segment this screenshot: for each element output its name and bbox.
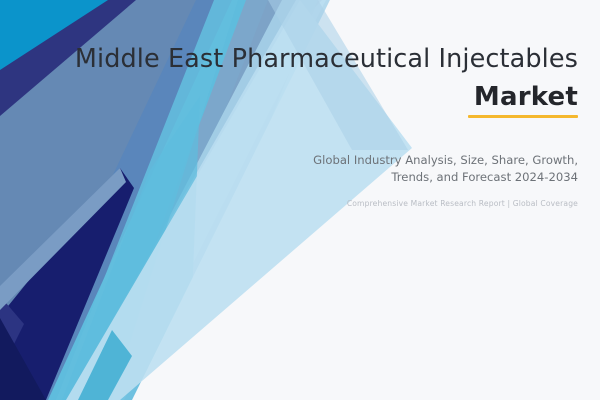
subtitle-line-1: Global Industry Analysis, Size, Share, G… (313, 153, 578, 167)
accent-underline (468, 115, 578, 118)
report-caption: Comprehensive Market Research Report | G… (178, 199, 578, 210)
page-title: Middle East Pharmaceutical Injectables (20, 44, 578, 74)
emphasis-block: Market (446, 83, 578, 118)
cover-text-layer: Middle East Pharmaceutical Injectables M… (0, 0, 600, 400)
subtitle: Global Industry Analysis, Size, Share, G… (248, 152, 578, 187)
emphasis-word: Market (474, 83, 578, 113)
subtitle-line-2: Trends, and Forecast 2024-2034 (391, 170, 578, 184)
report-cover: Middle East Pharmaceutical Injectables M… (0, 0, 600, 400)
